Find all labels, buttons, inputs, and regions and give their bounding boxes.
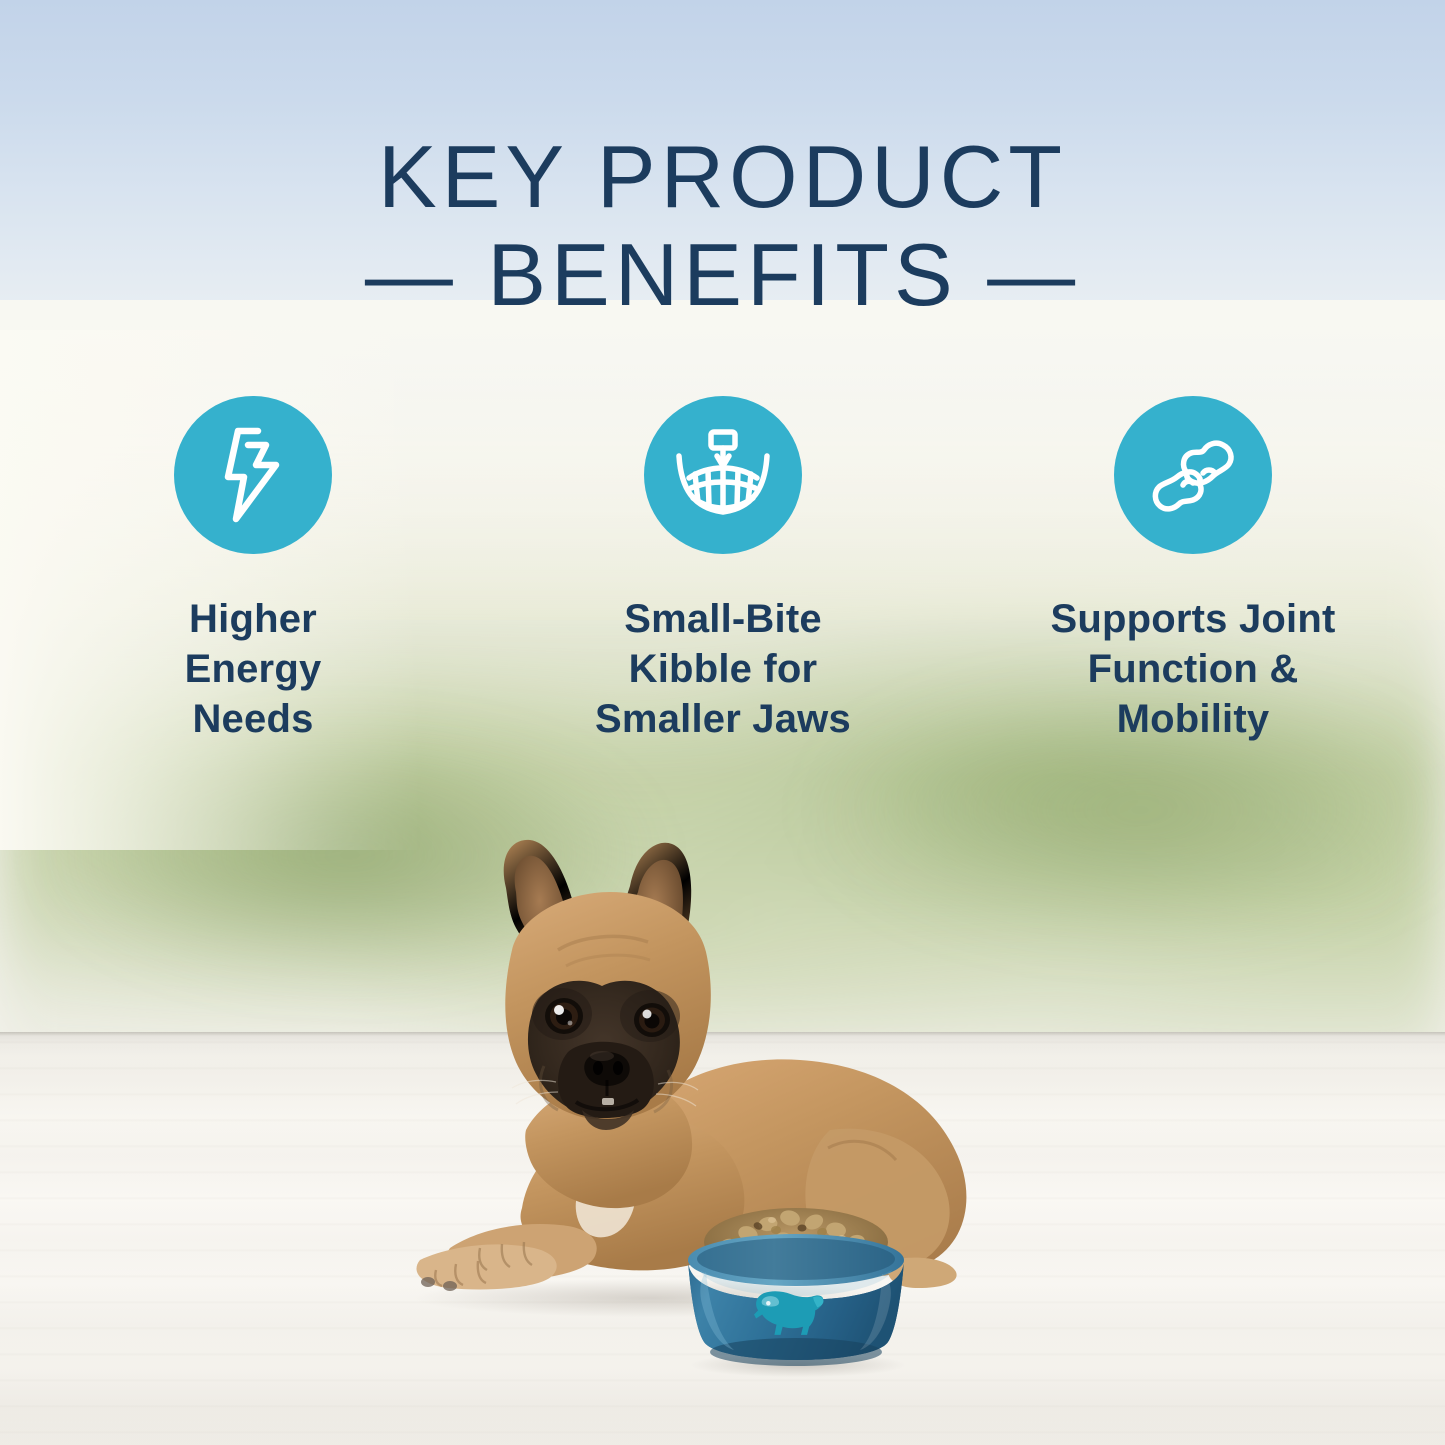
page-title: KEY PRODUCT — BENEFITS —	[0, 128, 1445, 324]
benefit-label-kibble: Small-Bite Kibble for Smaller Jaws	[595, 594, 851, 744]
benefit-label-line: Function &	[1050, 644, 1335, 694]
dog-food-bowl	[676, 1196, 916, 1381]
page-title-line-1: KEY PRODUCT	[0, 128, 1445, 226]
benefit-item-joint: Supports Joint Function & Mobility	[1028, 396, 1358, 744]
benefit-label-energy: Higher Energy Needs	[185, 594, 322, 744]
bone-joint-icon	[1141, 423, 1245, 527]
benefit-item-energy: Higher Energy Needs	[88, 396, 418, 744]
benefit-label-line: Mobility	[1050, 694, 1335, 744]
benefit-icon-badge-joint	[1114, 396, 1272, 554]
benefit-icon-badge-energy	[174, 396, 332, 554]
benefit-item-kibble: Small-Bite Kibble for Smaller Jaws	[558, 396, 888, 744]
lightning-bolt-icon	[214, 427, 292, 523]
benefit-label-line: Small-Bite	[595, 594, 851, 644]
benefit-label-line: Needs	[185, 694, 322, 744]
benefit-icon-badge-kibble	[644, 396, 802, 554]
benefit-label-line: Kibble for	[595, 644, 851, 694]
benefit-label-line: Smaller Jaws	[595, 694, 851, 744]
benefit-label-line: Higher	[185, 594, 322, 644]
page-title-line-2: — BENEFITS —	[0, 226, 1445, 324]
benefit-label-joint: Supports Joint Function & Mobility	[1050, 594, 1335, 744]
benefit-label-line: Supports Joint	[1050, 594, 1335, 644]
product-benefits-banner: KEY PRODUCT — BENEFITS — Higher Energy N…	[0, 0, 1445, 1445]
benefits-row: Higher Energy Needs	[88, 396, 1358, 744]
jaw-teeth-icon	[671, 426, 775, 524]
benefit-label-line: Energy	[185, 644, 322, 694]
